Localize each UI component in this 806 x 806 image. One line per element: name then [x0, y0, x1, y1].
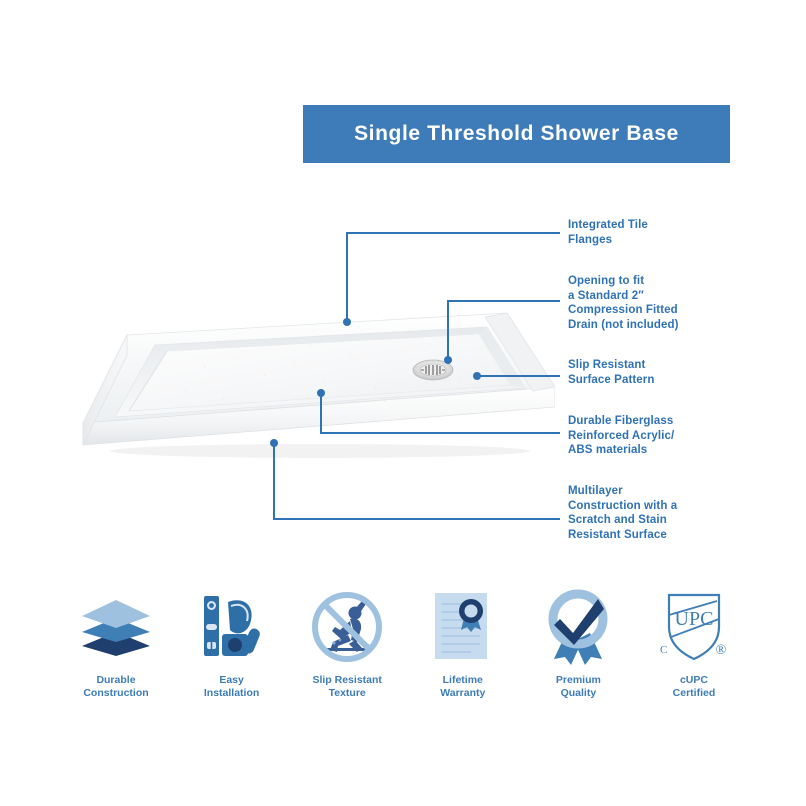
feature-label-cupc-certified: cUPC Certified — [673, 674, 716, 700]
feature-durable-construction: Durable Construction — [60, 588, 172, 700]
callout-label-slip-resistant-surface-pattern: Slip Resistant Surface Pattern — [568, 358, 655, 387]
shower-base-svg — [55, 295, 555, 470]
feature-cupc-certified: UPC C ® cUPC Certified — [638, 588, 750, 700]
feature-lifetime-warranty: Lifetime Warranty — [407, 588, 519, 700]
layered-stack-icon — [78, 588, 154, 666]
page-title-banner: Single Threshold Shower Base — [303, 105, 730, 163]
no-slip-warning-icon — [310, 588, 384, 666]
callout-label-drain-opening: Opening to fit a Standard 2″ Compression… — [568, 274, 679, 332]
feature-easy-installation: Easy Installation — [176, 588, 288, 700]
upc-badge-text: UPC — [675, 608, 714, 630]
feature-label-durable-construction: Durable Construction — [83, 674, 148, 700]
callout-label-multilayer-construction: Multilayer Construction with a Scratch a… — [568, 484, 677, 542]
page-title: Single Threshold Shower Base — [354, 122, 679, 146]
feature-label-slip-resistant-texture: Slip Resistant Texture — [312, 674, 381, 700]
feature-label-premium-quality: Premium Quality — [556, 674, 601, 700]
feature-label-easy-installation: Easy Installation — [204, 674, 259, 700]
base-shadow — [110, 444, 530, 458]
feature-slip-resistant-texture: Slip Resistant Texture — [291, 588, 403, 700]
level-and-trowel-icon — [194, 588, 270, 666]
callout-label-integrated-tile-flanges: Integrated Tile Flanges — [568, 218, 648, 247]
upc-shield-icon: UPC C ® — [655, 588, 733, 666]
callout-label-durable-fiberglass-materials: Durable Fiberglass Reinforced Acrylic/ A… — [568, 414, 674, 458]
checkmark-ribbon-icon — [542, 588, 614, 666]
certificate-seal-icon — [431, 588, 495, 666]
product-infographic: Single Threshold Shower Base — [0, 0, 806, 806]
shower-base-illustration — [55, 295, 555, 470]
feature-badge-row: Durable Construction — [60, 588, 750, 713]
feature-label-lifetime-warranty: Lifetime Warranty — [440, 674, 485, 700]
drain-grate — [413, 360, 453, 380]
upc-badge-c-mark: C — [660, 644, 667, 656]
feature-premium-quality: Premium Quality — [522, 588, 634, 700]
upc-badge-registered-mark: ® — [716, 643, 727, 658]
